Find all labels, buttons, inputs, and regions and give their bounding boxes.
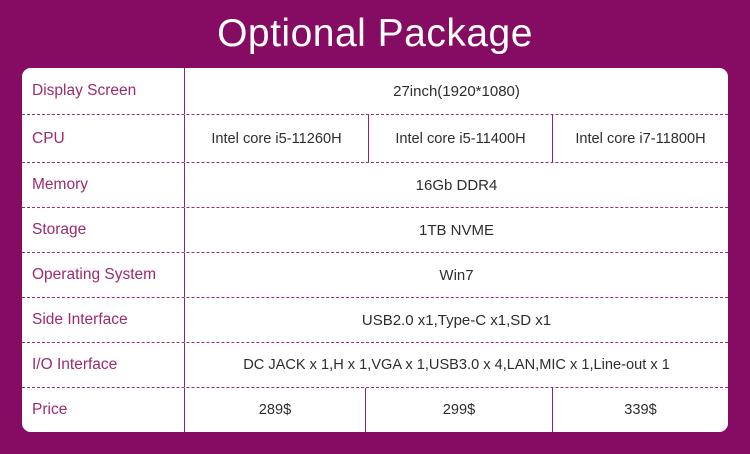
row-label-memory: Memory [22,163,185,207]
row-value-memory: 16Gb DDR4 [185,163,728,207]
table-row: Storage 1TB NVME [22,208,728,253]
table-row: Operating System Win7 [22,253,728,298]
row-value-side-interface: USB2.0 x1,Type-C x1,SD x1 [185,298,728,342]
price-option-3: 339$ [553,388,728,432]
table-row: I/O Interface DC JACK x 1,H x 1,VGA x 1,… [22,343,728,388]
page-title: Optional Package [0,8,750,60]
row-value-io-interface: DC JACK x 1,H x 1,VGA x 1,USB3.0 x 4,LAN… [185,343,728,387]
row-label-display-screen: Display Screen [22,68,185,114]
table-row: Memory 16Gb DDR4 [22,163,728,208]
cpu-option-3: Intel core i7-11800H [553,115,728,162]
price-option-1: 289$ [185,388,366,432]
row-label-io-interface: I/O Interface [22,343,185,387]
row-label-cpu: CPU [22,115,185,162]
table-row: Price 289$ 299$ 339$ [22,388,728,432]
row-label-side-interface: Side Interface [22,298,185,342]
table-row: Display Screen 27inch(1920*1080) [22,68,728,115]
row-value-display-screen: 27inch(1920*1080) [185,68,728,114]
row-label-price: Price [22,388,185,432]
table-row: Side Interface USB2.0 x1,Type-C x1,SD x1 [22,298,728,343]
price-option-2: 299$ [366,388,553,432]
row-value-storage: 1TB NVME [185,208,728,252]
row-value-price-group: 289$ 299$ 339$ [185,388,728,432]
optional-package-page: Optional Package Display Screen 27inch(1… [0,0,750,454]
spec-table: Display Screen 27inch(1920*1080) CPU Int… [22,68,728,432]
row-value-operating-system: Win7 [185,253,728,297]
cpu-option-2: Intel core i5-11400H [369,115,553,162]
cpu-option-1: Intel core i5-11260H [185,115,369,162]
row-label-storage: Storage [22,208,185,252]
row-value-cpu-group: Intel core i5-11260H Intel core i5-11400… [185,115,728,162]
row-label-operating-system: Operating System [22,253,185,297]
table-row: CPU Intel core i5-11260H Intel core i5-1… [22,115,728,163]
